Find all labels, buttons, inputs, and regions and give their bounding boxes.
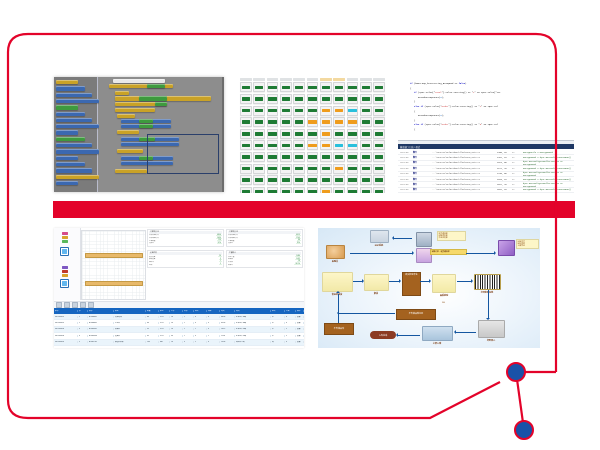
palette-block[interactable]: [56, 149, 99, 153]
status-cell[interactable]: [347, 106, 359, 116]
node-ng-hold-area[interactable]: 不合格品暂存区: [396, 309, 436, 320]
table-column-header[interactable]: 品名: [114, 310, 146, 312]
table-cell: 支架件: [114, 335, 146, 337]
table-column-header[interactable]: 状态: [183, 310, 194, 312]
table-row[interactable]: WO-0001066BOM-C-07线束组件70PCS2010014:20正常生…: [54, 346, 304, 348]
table-column-header[interactable]: 数量: [146, 310, 159, 312]
side-note-3: 上架作业: [518, 245, 538, 247]
status-cell[interactable]: [253, 117, 265, 127]
table-column-header[interactable]: 操作: [296, 310, 304, 312]
palette-block[interactable]: [56, 86, 85, 90]
table-body[interactable]: WO-0001011BOM-A-01壳体总成80PCS1010008:00正常生…: [54, 314, 304, 348]
table-column-header[interactable]: 班次: [271, 310, 285, 312]
node-unload[interactable]: 卸货: [364, 274, 388, 295]
table-column-header[interactable]: 人数: [285, 310, 296, 312]
palette-block[interactable]: [56, 175, 99, 179]
node-scan-entry[interactable]: 扫码录入: [478, 320, 504, 342]
table-cell: 查看: [296, 341, 304, 343]
status-cell[interactable]: [267, 175, 279, 185]
status-bar: [348, 120, 356, 124]
status-cell[interactable]: [307, 175, 319, 185]
status-bar: [268, 178, 276, 182]
status-cell[interactable]: [267, 140, 279, 150]
status-cell[interactable]: [360, 117, 372, 127]
code-token: "].Value.ToString() == ": [442, 91, 474, 94]
status-cell[interactable]: [280, 175, 292, 185]
status-bar: [322, 97, 330, 101]
node-erp-system[interactable]: ERP系统: [366, 230, 392, 247]
status-cell[interactable]: [293, 106, 305, 116]
status-cell[interactable]: [307, 140, 319, 150]
palette-block[interactable]: [56, 130, 78, 134]
console-cell: 2024-06: [400, 151, 410, 154]
blocks-scrollbar[interactable]: [222, 77, 224, 192]
table-cell: BOM-A-02: [88, 322, 114, 324]
code-token: "].Value.ToString() == ": [448, 123, 480, 126]
info-value: 3: [219, 259, 222, 260]
status-cell[interactable]: [373, 164, 385, 174]
node-inbound-complete[interactable]: 入库完成: [370, 331, 396, 339]
info-card[interactable]: 产量统计今日产量1,480合格品1,452不良品28合格率98.1%: [226, 250, 303, 268]
table-cell: PCS: [159, 328, 170, 330]
table-column-header[interactable]: 品号: [88, 310, 114, 312]
table-cell: 1: [183, 316, 194, 318]
status-bar: [255, 120, 263, 124]
info-card[interactable]: 订单信息 02计划开始时间09:15计划结束时间17:45工单数量86完成率78…: [226, 229, 303, 247]
status-bar: [335, 178, 343, 182]
status-cell[interactable]: [373, 82, 385, 92]
console-cell: 警告: [413, 167, 429, 170]
status-cell[interactable]: [373, 140, 385, 150]
code-token: (spec.Value[": [417, 91, 435, 94]
status-cell[interactable]: [333, 117, 345, 127]
status-cell[interactable]: [267, 187, 279, 193]
table-cell: 09:00: [220, 322, 235, 324]
status-cell[interactable]: [240, 94, 252, 104]
status-bar: [348, 132, 356, 136]
status-cell[interactable]: [240, 106, 252, 116]
rail-node[interactable]: [60, 247, 69, 256]
status-cell[interactable]: [240, 175, 252, 185]
arrow-inspection-to-quality: [420, 281, 429, 282]
status-cell[interactable]: [253, 94, 265, 104]
status-cell[interactable]: [333, 140, 345, 150]
arrow-head: [396, 333, 398, 337]
status-cell[interactable]: [253, 175, 265, 185]
info-card[interactable]: 订单信息 01计划开始时间08:00计划结束时间16:30工单数量120完成率9…: [147, 229, 224, 247]
palette-block[interactable]: [56, 118, 92, 122]
node-receiving-inspection[interactable]: 收货检验作业: [402, 272, 421, 296]
status-cell[interactable]: [360, 175, 372, 185]
status-cell[interactable]: [280, 106, 292, 116]
schedule-panel[interactable]: 订单信息 01计划开始时间08:00计划结束时间16:30工单数量120完成率9…: [54, 228, 304, 348]
console-cell: ...\Sources\WcfGridWorkflow\Form_Main.cs: [432, 178, 494, 181]
code-token: (spec.Value[": [423, 123, 441, 126]
status-cell[interactable]: [293, 94, 305, 104]
info-value: 28: [297, 261, 301, 262]
blocks-editor-panel[interactable]: [54, 77, 224, 192]
info-value: 09:15: [295, 235, 301, 236]
status-cell[interactable]: [240, 187, 252, 193]
status-bar: [282, 132, 290, 136]
schedule-gantt-area[interactable]: 订单信息 01计划开始时间08:00计划结束时间16:30工单数量120完成率9…: [54, 228, 304, 300]
console-cell: 2941, 19: [497, 188, 509, 191]
table-cell: 0: [194, 316, 207, 318]
info-card-header: 设备状态: [149, 252, 222, 255]
console-cell: WCFTypeBook = dync.GetConfigureDataRow(): [523, 167, 574, 170]
status-cell[interactable]: [320, 152, 332, 162]
status-bar: [295, 97, 303, 101]
status-cell[interactable]: [360, 164, 372, 174]
blocks-palette[interactable]: [54, 77, 98, 192]
status-cell[interactable]: [360, 140, 372, 150]
palette-block[interactable]: [56, 105, 78, 109]
arrow-head: [336, 291, 340, 293]
console-cell: 警告: [413, 178, 429, 181]
palette-block[interactable]: [56, 112, 85, 116]
status-cell[interactable]: [320, 175, 332, 185]
status-bar: [322, 155, 330, 159]
status-cell[interactable]: [333, 106, 345, 116]
status-bar: [362, 97, 370, 101]
status-bar: [348, 190, 356, 193]
node-print-barcode-label[interactable]: 打印条码标签: [474, 274, 500, 294]
info-line: 计划结束时间16:30: [149, 237, 222, 239]
canvas-block[interactable]: [113, 79, 165, 83]
status-bar: [308, 190, 316, 193]
status-cell[interactable]: [333, 164, 345, 174]
console-panel[interactable]: 输出窗口 日志 / 调试 2024-06警告...\Sources\WcfGri…: [398, 144, 574, 193]
info-value: 24: [218, 256, 222, 257]
status-cell[interactable]: [280, 129, 292, 139]
status-cell[interactable]: [267, 117, 279, 127]
canvas-block[interactable]: [147, 84, 165, 88]
code-token: }: [414, 119, 415, 122]
node-purchaser[interactable]: 采购员: [322, 245, 348, 263]
status-cell[interactable]: [373, 117, 385, 127]
status-bar: [295, 132, 303, 136]
status-cell[interactable]: [373, 129, 385, 139]
arrow-scan-to-putaway: [456, 332, 476, 333]
status-cell[interactable]: [280, 94, 292, 104]
canvas-block[interactable]: [139, 96, 167, 101]
status-cell[interactable]: [360, 94, 372, 104]
status-cell[interactable]: [373, 106, 385, 116]
status-cell[interactable]: [320, 82, 332, 92]
status-cell[interactable]: [293, 164, 305, 174]
status-cell[interactable]: [333, 94, 345, 104]
status-cell[interactable]: [307, 117, 319, 127]
console-cell: 警告: [413, 161, 429, 164]
schedule-timeline-grid[interactable]: [81, 230, 146, 300]
status-cell[interactable]: [347, 140, 359, 150]
status-cell[interactable]: [347, 164, 359, 174]
canvas-block[interactable]: [117, 114, 135, 118]
gantt-bar[interactable]: [85, 281, 143, 286]
status-bar: [295, 120, 303, 124]
table-column-header[interactable]: 工序: [170, 310, 183, 312]
node-ng-warehouse[interactable]: 不合格品库: [324, 323, 354, 335]
status-bar: [362, 109, 370, 113]
status-cell[interactable]: [360, 106, 372, 116]
node-report-query[interactable]: [495, 240, 517, 256]
status-bar: [348, 109, 356, 113]
info-line: 工单数量86: [228, 240, 301, 242]
status-cell[interactable]: [280, 164, 292, 174]
palette-block[interactable]: [56, 168, 92, 172]
palette-block[interactable]: [56, 80, 78, 84]
status-cell[interactable]: [347, 187, 359, 193]
status-bar: [242, 155, 250, 159]
table-cell: 130: [146, 341, 159, 343]
table-column-header[interactable]: 说明: [235, 310, 271, 312]
status-cell[interactable]: [347, 94, 359, 104]
table-cell: 0: [207, 316, 220, 318]
console-row-list[interactable]: 2024-06警告...\Sources\WcfGridWorkflow\For…: [398, 149, 574, 193]
status-cell[interactable]: [253, 152, 265, 162]
table-column-header[interactable]: 转次: [194, 310, 207, 312]
status-cell[interactable]: [293, 152, 305, 162]
status-cell[interactable]: [267, 152, 279, 162]
status-cell[interactable]: [347, 175, 359, 185]
status-bar: [375, 144, 383, 148]
palette-block[interactable]: [56, 181, 78, 185]
grid-row: [240, 129, 385, 139]
console-cell: 2912, 28: [497, 183, 509, 186]
status-bar: [375, 132, 383, 136]
status-cell[interactable]: [360, 152, 372, 162]
console-cell: 2024-06: [400, 188, 410, 191]
status-cell[interactable]: [253, 164, 265, 174]
table-cell: 查看: [296, 322, 304, 324]
status-cell[interactable]: [320, 140, 332, 150]
info-column: 订单信息 02计划开始时间09:15计划结束时间17:45工单数量86完成率78…: [226, 229, 303, 299]
status-bar: [255, 155, 263, 159]
info-card-header: 订单信息 01: [149, 231, 222, 234]
status-cell[interactable]: [240, 152, 252, 162]
status-cell[interactable]: [240, 129, 252, 139]
status-cell[interactable]: [293, 187, 305, 193]
arrow-to-ng-warehouse: [338, 314, 339, 323]
status-cell[interactable]: [253, 140, 265, 150]
canvas-block[interactable]: [155, 102, 167, 106]
status-cell[interactable]: [293, 82, 305, 92]
canvas-block[interactable]: [139, 124, 153, 128]
status-cell[interactable]: [307, 94, 319, 104]
status-cell[interactable]: [280, 152, 292, 162]
console-cell: 2024-06: [400, 172, 410, 175]
work-order-table[interactable]: 单号序品号品名数量单位工序状态转次线体时间说明班次人数操作 WO-0001011…: [54, 308, 304, 348]
status-cell[interactable]: [280, 82, 292, 92]
status-cell[interactable]: [347, 117, 359, 127]
status-cell[interactable]: [240, 82, 252, 92]
status-cell[interactable]: [333, 175, 345, 185]
status-bar: [362, 155, 370, 159]
status-cell[interactable]: [320, 164, 332, 174]
status-bar: [362, 132, 370, 136]
status-cell[interactable]: [320, 106, 332, 116]
palette-block[interactable]: [56, 143, 92, 147]
status-cell[interactable]: [253, 82, 265, 92]
table-column-header[interactable]: 单号: [54, 310, 78, 312]
status-cell[interactable]: [307, 82, 319, 92]
status-cell[interactable]: [280, 187, 292, 193]
node-putaway[interactable]: 上架入库: [422, 326, 452, 345]
table-column-header[interactable]: 序: [78, 310, 88, 312]
status-cell[interactable]: [240, 140, 252, 150]
console-row[interactable]: 2024-06警告...\Sources\WcfGridWorkflow\For…: [398, 188, 574, 193]
palette-block[interactable]: [56, 93, 92, 97]
red-divider-banner: [53, 201, 575, 218]
logistics-flow-panel[interactable]: ERP系统 采购员 收货通知单 出库任务单 作业任务单 采购订单、收货通知单 出…: [318, 228, 540, 348]
top-note-3: 作业任务单: [439, 237, 465, 239]
canvas-block[interactable]: [117, 149, 143, 153]
node-wms-terminal[interactable]: [414, 232, 434, 247]
status-bar: [255, 144, 263, 148]
status-cell[interactable]: [320, 129, 332, 139]
table-cell: 4: [78, 335, 88, 337]
table-column-header[interactable]: 单位: [159, 310, 170, 312]
status-bar: [335, 86, 343, 90]
palette-block[interactable]: [56, 124, 99, 128]
status-cell[interactable]: [307, 164, 319, 174]
status-bar: [322, 86, 330, 90]
canvas-block[interactable]: [115, 169, 147, 173]
status-cell[interactable]: [320, 94, 332, 104]
console-cell: 警告: [413, 156, 429, 159]
canvas-block[interactable]: [115, 108, 155, 112]
status-bar: [295, 178, 303, 182]
info-card-header: 订单信息 02: [228, 231, 301, 234]
status-cell[interactable]: [267, 164, 279, 174]
table-cell: 0: [194, 335, 207, 337]
table-cell: 10: [170, 341, 183, 343]
status-cell[interactable]: [333, 187, 345, 193]
status-cell[interactable]: [307, 129, 319, 139]
console-cell: ...\Sources\WcfGridWorkflow\Form_Main.cs: [432, 183, 494, 186]
table-cell: 0: [207, 322, 220, 324]
status-cell[interactable]: [373, 187, 385, 193]
palette-block[interactable]: [56, 162, 85, 166]
status-bar: [255, 190, 263, 193]
status-bar: [282, 190, 290, 193]
node-inbound-complete-label: 入库完成: [379, 334, 387, 337]
info-label: 计划开始时间: [228, 234, 294, 236]
rail-node[interactable]: [60, 279, 69, 288]
code-token: {: [414, 110, 415, 113]
status-cell[interactable]: [347, 152, 359, 162]
status-bar: [375, 167, 383, 171]
status-cell[interactable]: [320, 187, 332, 193]
status-cell[interactable]: [240, 164, 252, 174]
status-cell[interactable]: [267, 82, 279, 92]
code-editor-panel[interactable]: if (bGetLoop_bIsStarting_BLoopEnd == fal…: [398, 78, 574, 193]
blocks-canvas[interactable]: [99, 77, 224, 192]
canvas-block[interactable]: [117, 130, 139, 134]
status-cell[interactable]: [347, 82, 359, 92]
status-bar: [335, 190, 343, 193]
status-cell[interactable]: [360, 82, 372, 92]
canvas-block[interactable]: [139, 119, 153, 123]
console-cell: dync.GetConfigureBufferToValue == WCFTyp…: [523, 182, 574, 188]
table-cell: 30: [170, 335, 183, 337]
table-cell: 0: [207, 341, 220, 343]
status-bar: [375, 178, 383, 182]
console-cell: WCFTypeFile = WCFTypeBook: [523, 151, 574, 154]
status-bar: [282, 86, 290, 90]
decorative-frame: [0, 0, 600, 450]
status-cell[interactable]: [267, 129, 279, 139]
status-bar: [268, 109, 276, 113]
status-cell[interactable]: [253, 106, 265, 116]
status-cell[interactable]: [293, 140, 305, 150]
status-cell[interactable]: [307, 152, 319, 162]
info-label: 完成率: [149, 242, 216, 244]
status-cell[interactable]: [267, 106, 279, 116]
grid-row: [240, 140, 385, 150]
info-label: 计划结束时间: [228, 237, 294, 239]
status-cell[interactable]: [360, 129, 372, 139]
code-token: "].Value.ToString() == ": [448, 105, 480, 108]
status-cell[interactable]: [333, 129, 345, 139]
table-cell: 2: [183, 328, 194, 330]
status-cell[interactable]: [240, 117, 252, 127]
status-cell[interactable]: [320, 117, 332, 127]
arrow-delivery-to-unload: [353, 281, 362, 282]
status-cell[interactable]: [293, 175, 305, 185]
console-cell: WCFTypeBook = dync.GetConfigureDataRow(): [523, 156, 574, 159]
schedule-toolbar[interactable]: [54, 301, 304, 308]
status-cell[interactable]: [293, 117, 305, 127]
info-card[interactable]: 设备状态运行设备24停机设备3维修中1空闲5: [147, 250, 224, 268]
arrow-head: [471, 279, 473, 283]
status-cell[interactable]: [333, 152, 345, 162]
status-cell[interactable]: [373, 175, 385, 185]
node-quality-inspection[interactable]: 品质检验: [432, 274, 456, 297]
table-cell: 待料中 C线: [235, 341, 271, 343]
status-cell[interactable]: [267, 94, 279, 104]
status-cell[interactable]: [373, 94, 385, 104]
canvas-block[interactable]: [115, 91, 129, 95]
palette-block[interactable]: [56, 137, 85, 141]
gantt-bar[interactable]: [85, 253, 143, 258]
palette-block[interactable]: [56, 99, 99, 103]
status-cell[interactable]: [253, 187, 265, 193]
info-line: 维修中1: [149, 261, 222, 263]
status-cell[interactable]: [373, 152, 385, 162]
status-cell[interactable]: [360, 187, 372, 193]
status-bar: [242, 120, 250, 124]
table-column-header[interactable]: 时间: [220, 310, 235, 312]
status-grid-panel[interactable]: 正常预警维修中停机故障: [239, 78, 386, 193]
table-column-header[interactable]: 线体: [207, 310, 220, 312]
status-cell[interactable]: [333, 82, 345, 92]
status-cell[interactable]: [347, 129, 359, 139]
status-cell[interactable]: [293, 129, 305, 139]
status-bar: [282, 178, 290, 182]
status-cell[interactable]: [307, 187, 319, 193]
status-grid-body[interactable]: [239, 82, 386, 193]
status-cell[interactable]: [307, 106, 319, 116]
console-cell: CS: [512, 156, 520, 159]
status-cell[interactable]: [280, 117, 292, 127]
status-cell[interactable]: [280, 140, 292, 150]
status-cell[interactable]: [253, 129, 265, 139]
grid-column-header: [240, 78, 252, 81]
grid-row: [240, 152, 385, 162]
code-editor-text[interactable]: if (bGetLoop_bIsStarting_BLoopEnd == fal…: [398, 78, 574, 140]
palette-block[interactable]: [56, 156, 78, 160]
